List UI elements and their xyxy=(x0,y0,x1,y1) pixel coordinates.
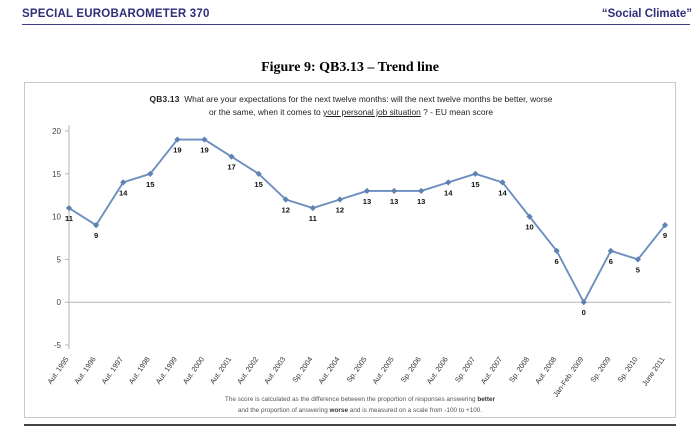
svg-text:Aut. 1999: Aut. 1999 xyxy=(154,355,179,386)
chart-container: QB3.13 What are your expectations for th… xyxy=(24,82,676,418)
data-labels: 1191415191917151211121313131415141060659 xyxy=(65,146,667,318)
svg-text:10: 10 xyxy=(52,213,61,222)
svg-text:Sp. 2005: Sp. 2005 xyxy=(345,355,369,384)
page-header: SPECIAL EUROBAROMETER 370 “Social Climat… xyxy=(0,0,700,30)
svg-text:14: 14 xyxy=(498,188,507,197)
svg-text:June 2011: June 2011 xyxy=(640,355,667,388)
header-right-title: “Social Climate” xyxy=(602,8,692,20)
x-axis-labels: Aut. 1995Aut. 1996Aut. 1997Aut. 1998Aut.… xyxy=(45,355,666,399)
svg-text:11: 11 xyxy=(309,214,318,223)
page-bottom-divider xyxy=(24,424,676,426)
svg-text:15: 15 xyxy=(471,180,480,189)
svg-text:Aut. 1998: Aut. 1998 xyxy=(127,355,152,386)
svg-text:9: 9 xyxy=(94,231,98,240)
svg-text:Aut. 1996: Aut. 1996 xyxy=(72,355,97,386)
svg-text:Sp. 2008: Sp. 2008 xyxy=(507,355,531,384)
svg-text:-5: -5 xyxy=(54,341,62,350)
svg-text:9: 9 xyxy=(663,231,667,240)
svg-text:Sp. 2004: Sp. 2004 xyxy=(290,355,314,384)
svg-text:15: 15 xyxy=(254,180,263,189)
svg-text:Aut. 1997: Aut. 1997 xyxy=(100,355,125,386)
svg-text:10: 10 xyxy=(525,223,533,232)
footnote-line-1-a: The score is calculated as the differenc… xyxy=(225,396,477,403)
svg-text:17: 17 xyxy=(227,163,235,172)
svg-text:20: 20 xyxy=(52,127,61,136)
figure-title: Figure 9: QB3.13 – Trend line xyxy=(0,60,700,76)
footnote-better: better xyxy=(477,396,495,403)
svg-text:19: 19 xyxy=(173,146,181,155)
y-axis: -505101520 xyxy=(52,125,69,350)
svg-text:0: 0 xyxy=(57,298,62,307)
svg-text:13: 13 xyxy=(417,197,425,206)
svg-text:15: 15 xyxy=(52,170,61,179)
svg-text:Aut. 2005: Aut. 2005 xyxy=(370,355,395,386)
svg-text:Sp. 2010: Sp. 2010 xyxy=(615,355,639,384)
svg-text:Aut. 2008: Aut. 2008 xyxy=(533,355,558,386)
svg-text:Aut. 2007: Aut. 2007 xyxy=(479,355,504,386)
svg-text:13: 13 xyxy=(390,197,398,206)
footnote-line-2-a: and the proportion of answering xyxy=(238,407,330,414)
footnote-worse: worse xyxy=(330,407,348,414)
svg-text:Sp. 2007: Sp. 2007 xyxy=(453,355,477,384)
footnote-line-2-c: and is measured on a scale from -100 to … xyxy=(348,407,482,414)
svg-text:Sp. 2006: Sp. 2006 xyxy=(399,355,423,384)
svg-text:5: 5 xyxy=(636,265,641,274)
svg-text:15: 15 xyxy=(146,180,155,189)
svg-text:0: 0 xyxy=(582,308,586,317)
plot-svg: -505101520 Aut. 1995Aut. 1996Aut. 1997Au… xyxy=(25,83,677,419)
svg-text:5: 5 xyxy=(57,255,62,264)
svg-text:Aut. 2003: Aut. 2003 xyxy=(262,355,287,386)
series-line xyxy=(69,140,665,303)
svg-text:Aut. 2001: Aut. 2001 xyxy=(208,355,233,386)
svg-text:Aut. 1995: Aut. 1995 xyxy=(45,355,70,386)
trend-line-plot: -505101520 Aut. 1995Aut. 1996Aut. 1997Au… xyxy=(25,83,677,419)
svg-text:6: 6 xyxy=(555,257,559,266)
svg-text:Sp. 2009: Sp. 2009 xyxy=(588,355,612,384)
svg-text:14: 14 xyxy=(444,188,453,197)
header-left-title: SPECIAL EUROBAROMETER 370 xyxy=(22,8,210,20)
svg-text:6: 6 xyxy=(609,257,613,266)
svg-text:14: 14 xyxy=(119,188,128,197)
svg-text:12: 12 xyxy=(282,205,290,214)
svg-text:Aut. 2004: Aut. 2004 xyxy=(316,355,341,386)
svg-text:Aut. 2002: Aut. 2002 xyxy=(235,355,260,386)
svg-text:Aut. 2006: Aut. 2006 xyxy=(425,355,450,386)
svg-text:19: 19 xyxy=(200,146,208,155)
svg-text:13: 13 xyxy=(363,197,371,206)
svg-text:12: 12 xyxy=(336,205,344,214)
svg-text:11: 11 xyxy=(65,214,74,223)
series-markers xyxy=(66,136,668,305)
header-divider xyxy=(22,24,690,25)
svg-text:Aut. 2000: Aut. 2000 xyxy=(181,355,206,386)
chart-footnote: The score is calculated as the differenc… xyxy=(150,394,570,416)
